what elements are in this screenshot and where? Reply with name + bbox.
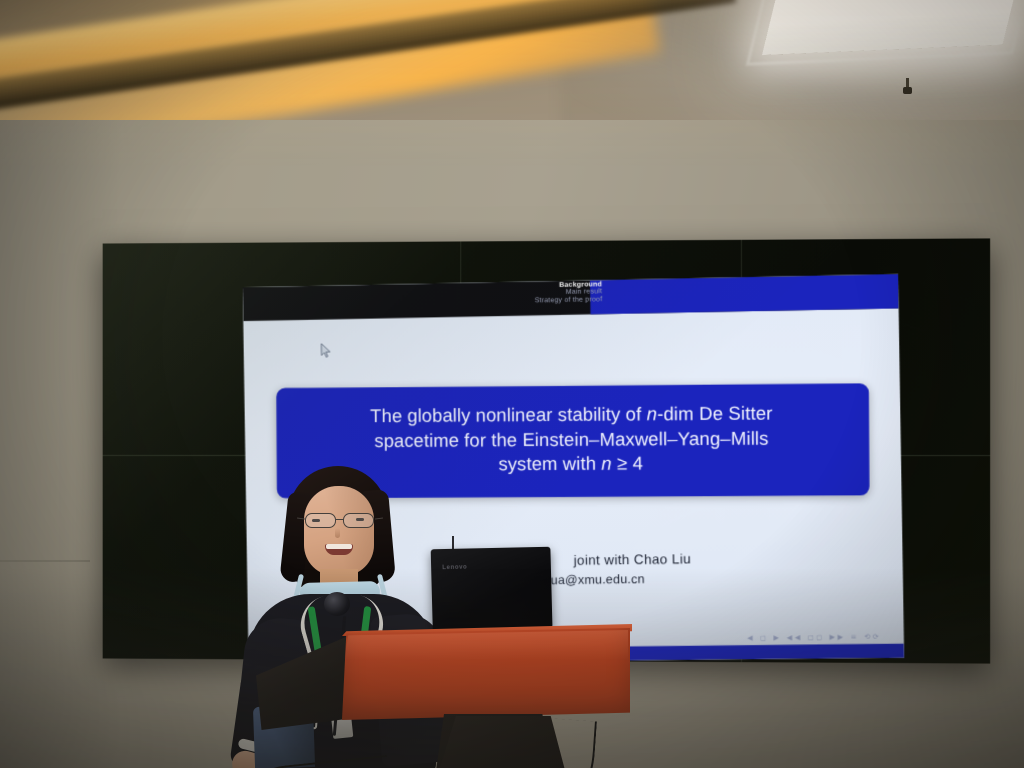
sprinkler-head — [903, 78, 912, 96]
title-line-2: spacetime for the Einstein–Maxwell–Yang–… — [294, 426, 851, 454]
mouse-pointer-icon — [320, 343, 331, 358]
beamer-section-nav[interactable]: Background Main result Strategy of the p… — [492, 281, 602, 305]
ceiling — [0, 0, 1024, 132]
floor-shadow — [0, 568, 1024, 768]
mouth-smiling — [325, 544, 353, 555]
slide-header-accent — [590, 274, 899, 314]
eyeglasses — [298, 513, 382, 529]
nose — [335, 528, 340, 538]
author-coauthor: joint with Chao Liu — [573, 551, 691, 568]
lecture-hall-scene: Background Main result Strategy of the p… — [0, 0, 1024, 768]
wall-seam — [0, 560, 90, 562]
title-line-1: The globally nonlinear stability of n-di… — [294, 401, 851, 430]
